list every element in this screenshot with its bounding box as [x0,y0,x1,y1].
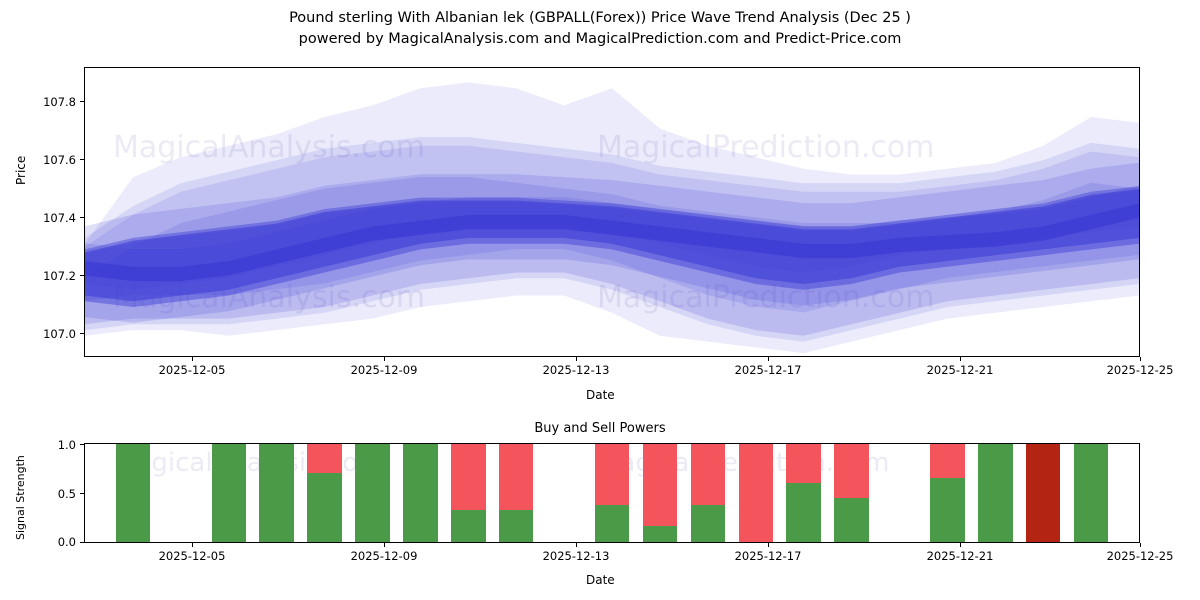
xtick-l-3: 2025-12-17 [713,549,823,563]
xtickmark-u-5 [1140,357,1141,361]
ytick-l-2: 1.0 [16,438,76,452]
bar-2025-12-10 [403,444,438,542]
buy-power-segment [930,478,965,542]
bar-2025-12-17 [739,444,774,542]
xtick-l-5: 2025-12-25 [1085,549,1195,563]
price-wave-chart: MagicalAnalysis.com MagicalPrediction.co… [84,67,1140,357]
buy-power-segment [451,510,486,542]
bar-2025-12-04 [116,444,151,542]
xtick-l-0: 2025-12-05 [137,549,247,563]
xtickmark-u-0 [192,357,193,361]
xtick-u-4: 2025-12-21 [905,363,1015,377]
chart-title-block: Pound sterling With Albanian lek (GBPALL… [0,8,1200,50]
xtick-u-0: 2025-12-05 [137,363,247,377]
buy-power-segment [307,473,342,542]
sell-power-segment [643,444,678,526]
xtick-u-1: 2025-12-09 [329,363,439,377]
buy-power-segment [834,498,869,542]
buy-power-segment [1074,444,1109,542]
bar-2025-12-22 [978,444,1013,542]
ytickmark-l-0 [80,542,84,543]
ytick-u-1: 107.2 [16,269,76,283]
sell-power-segment [595,444,630,505]
bar-2025-12-18 [786,444,821,542]
buy-power-segment [1026,444,1061,542]
subchart-title: Buy and Sell Powers [0,421,1200,436]
sell-power-segment [691,444,726,505]
bar-2025-12-24 [1074,444,1109,542]
sell-power-segment [930,444,965,478]
xtick-l-4: 2025-12-21 [905,549,1015,563]
bar-2025-12-15 [643,444,678,542]
yaxis-title-upper: Price [14,156,28,185]
buy-power-segment [355,444,390,542]
chart-title-line-2: powered by MagicalAnalysis.com and Magic… [0,29,1200,50]
xtickmark-u-1 [384,357,385,361]
yaxis-title-lower: Signal Strength [14,455,27,540]
bar-2025-12-07 [259,444,294,542]
ytickmark-u-3 [80,159,84,160]
xtick-u-3: 2025-12-17 [713,363,823,377]
ytickmark-l-2 [80,444,84,445]
buy-power-segment [978,444,1013,542]
buy-power-segment [691,505,726,542]
bar-2025-12-12 [499,444,534,542]
xtickmark-l-2 [576,543,577,547]
bar-2025-12-08 [307,444,342,542]
xtick-u-5: 2025-12-25 [1085,363,1195,377]
buy-power-segment [212,444,247,542]
ytickmark-u-4 [80,101,84,102]
ytickmark-u-0 [80,333,84,334]
xaxis-title-upper: Date [586,388,615,402]
price-wave-bands [85,68,1139,356]
bar-2025-12-21 [930,444,965,542]
buy-sell-powers-chart: MagicalAnalysis.com MagicalPrediction.co… [84,443,1140,543]
sell-power-segment [739,444,774,542]
ytick-u-4: 107.8 [16,95,76,109]
chart-page: Pound sterling With Albanian lek (GBPALL… [0,0,1200,600]
buy-power-segment [116,444,151,542]
xtickmark-u-4 [960,357,961,361]
sell-power-segment [451,444,486,510]
xtickmark-l-0 [192,543,193,547]
bar-2025-12-23 [1026,444,1061,542]
sell-power-segment [499,444,534,510]
bar-2025-12-09 [355,444,390,542]
xtickmark-l-5 [1140,543,1141,547]
bar-2025-12-16 [691,444,726,542]
xtickmark-l-1 [384,543,385,547]
xtickmark-l-4 [960,543,961,547]
ytickmark-u-2 [80,217,84,218]
sell-power-segment [786,444,821,483]
bar-2025-12-19 [834,444,869,542]
xtick-u-2: 2025-12-13 [521,363,631,377]
ytickmark-u-1 [80,275,84,276]
chart-title-line-1: Pound sterling With Albanian lek (GBPALL… [0,8,1200,29]
xtick-l-2: 2025-12-13 [521,549,631,563]
xtickmark-u-3 [768,357,769,361]
buy-power-segment [786,483,821,542]
bar-2025-12-14 [595,444,630,542]
buy-power-segment [643,526,678,542]
buy-power-segment [259,444,294,542]
bar-2025-12-06 [212,444,247,542]
buy-power-segment [403,444,438,542]
sell-power-segment [307,444,342,473]
xtickmark-l-3 [768,543,769,547]
ytick-u-2: 107.4 [16,211,76,225]
xaxis-title-lower: Date [586,573,615,587]
bar-2025-12-11 [451,444,486,542]
buy-power-segment [595,505,630,542]
sell-power-segment [834,444,869,498]
buy-power-segment [499,510,534,542]
ytickmark-l-1 [80,493,84,494]
xtick-l-1: 2025-12-09 [329,549,439,563]
bar-group [85,444,1139,542]
ytick-u-0: 107.0 [16,327,76,341]
xtickmark-u-2 [576,357,577,361]
